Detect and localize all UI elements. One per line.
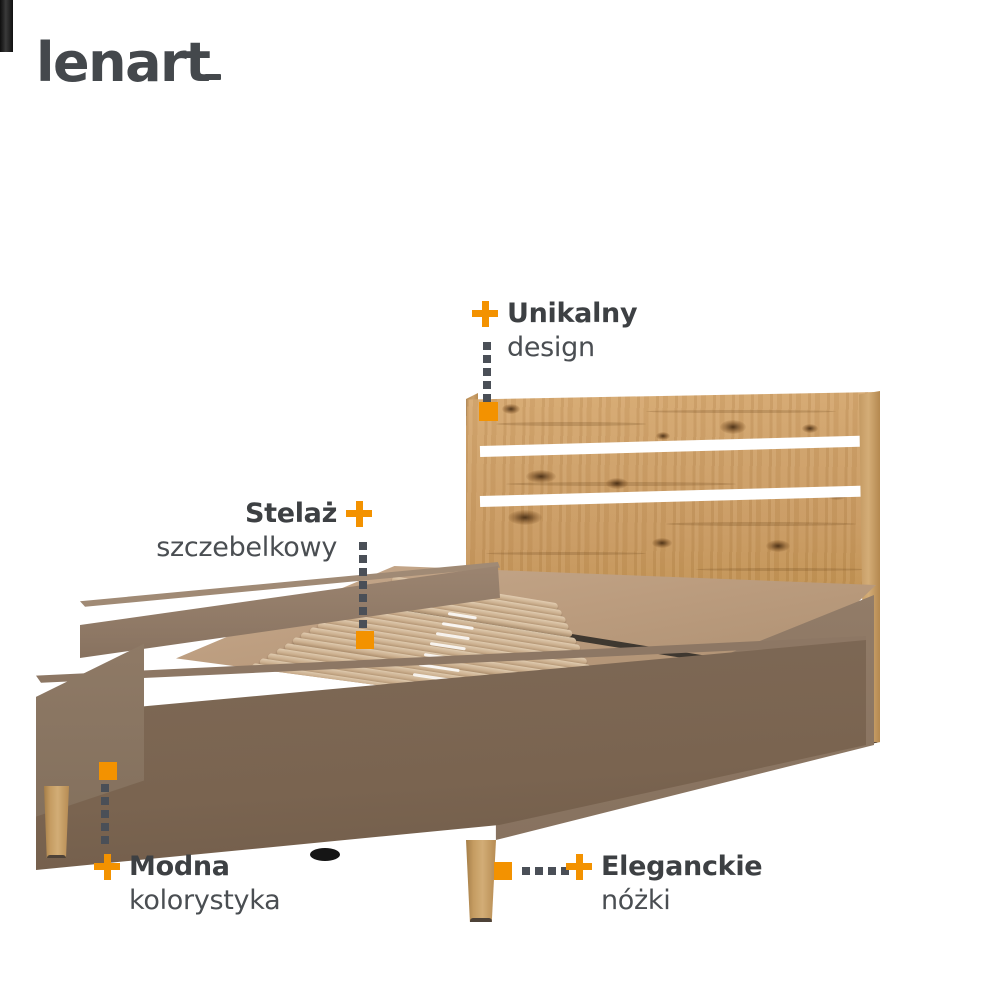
callout-subtitle: nóżki <box>601 887 670 915</box>
callout-unikalny-design[interactable]: Unikalny design <box>472 300 637 361</box>
callout-stelaz-szczebelkowy[interactable]: Stelaż szczebelkowy <box>118 500 372 561</box>
leader-line-modna <box>101 784 109 846</box>
callout-title: Eleganckie <box>601 853 762 881</box>
leader-dot <box>483 368 491 376</box>
callout-subtitle: design <box>507 334 595 362</box>
leader-dot <box>101 810 109 818</box>
headboard-slot-upper <box>480 435 878 457</box>
leader-dot <box>483 342 491 350</box>
callout-modna-kolorystyka[interactable]: Modna kolorystyka <box>94 853 280 914</box>
leader-line-stelaz <box>359 542 367 630</box>
leg-front-right-foot <box>470 918 492 926</box>
leader-dot <box>548 867 556 875</box>
callout-title: Unikalny <box>507 300 637 328</box>
callout-subtitle: szczebelkowy <box>156 534 337 562</box>
leader-dot <box>101 823 109 831</box>
leader-dot <box>483 381 491 389</box>
callout-subtitle: kolorystyka <box>129 887 280 915</box>
leader-dot <box>359 607 367 615</box>
anchor-marker-side-rail <box>99 762 117 780</box>
leader-dot <box>359 620 367 628</box>
plus-icon <box>472 301 498 327</box>
leader-dot <box>101 836 109 844</box>
leader-dot <box>359 542 367 550</box>
plus-icon <box>346 501 372 527</box>
leader-dot <box>101 784 109 792</box>
leader-dot <box>535 867 543 875</box>
leader-line-eleganckie <box>522 867 564 875</box>
anchor-marker-headboard <box>479 402 498 421</box>
anchor-marker-slat-base <box>356 631 374 649</box>
headboard-slot-lower <box>480 485 878 507</box>
leader-dot <box>483 394 491 402</box>
callout-title: Stelaż <box>245 500 337 528</box>
leg-front-right <box>466 840 496 922</box>
product-marketing-image: lenart <box>0 0 1000 1000</box>
plus-icon <box>566 854 592 880</box>
leader-dot <box>359 594 367 602</box>
leader-line-unikalny <box>483 342 491 404</box>
anchor-marker-front-leg <box>494 862 512 880</box>
center-metal-leg <box>0 0 13 52</box>
callout-eleganckie-nozki[interactable]: Eleganckie nóżki <box>566 853 762 914</box>
leader-dot <box>483 355 491 363</box>
leader-dot <box>359 568 367 576</box>
center-metal-leg-foot <box>310 848 340 861</box>
plus-icon <box>94 854 120 880</box>
leader-dot <box>101 797 109 805</box>
leader-dot <box>522 867 530 875</box>
leader-dot <box>359 581 367 589</box>
callout-title: Modna <box>129 853 230 881</box>
leg-front-left <box>44 786 69 858</box>
leader-dot <box>359 555 367 563</box>
